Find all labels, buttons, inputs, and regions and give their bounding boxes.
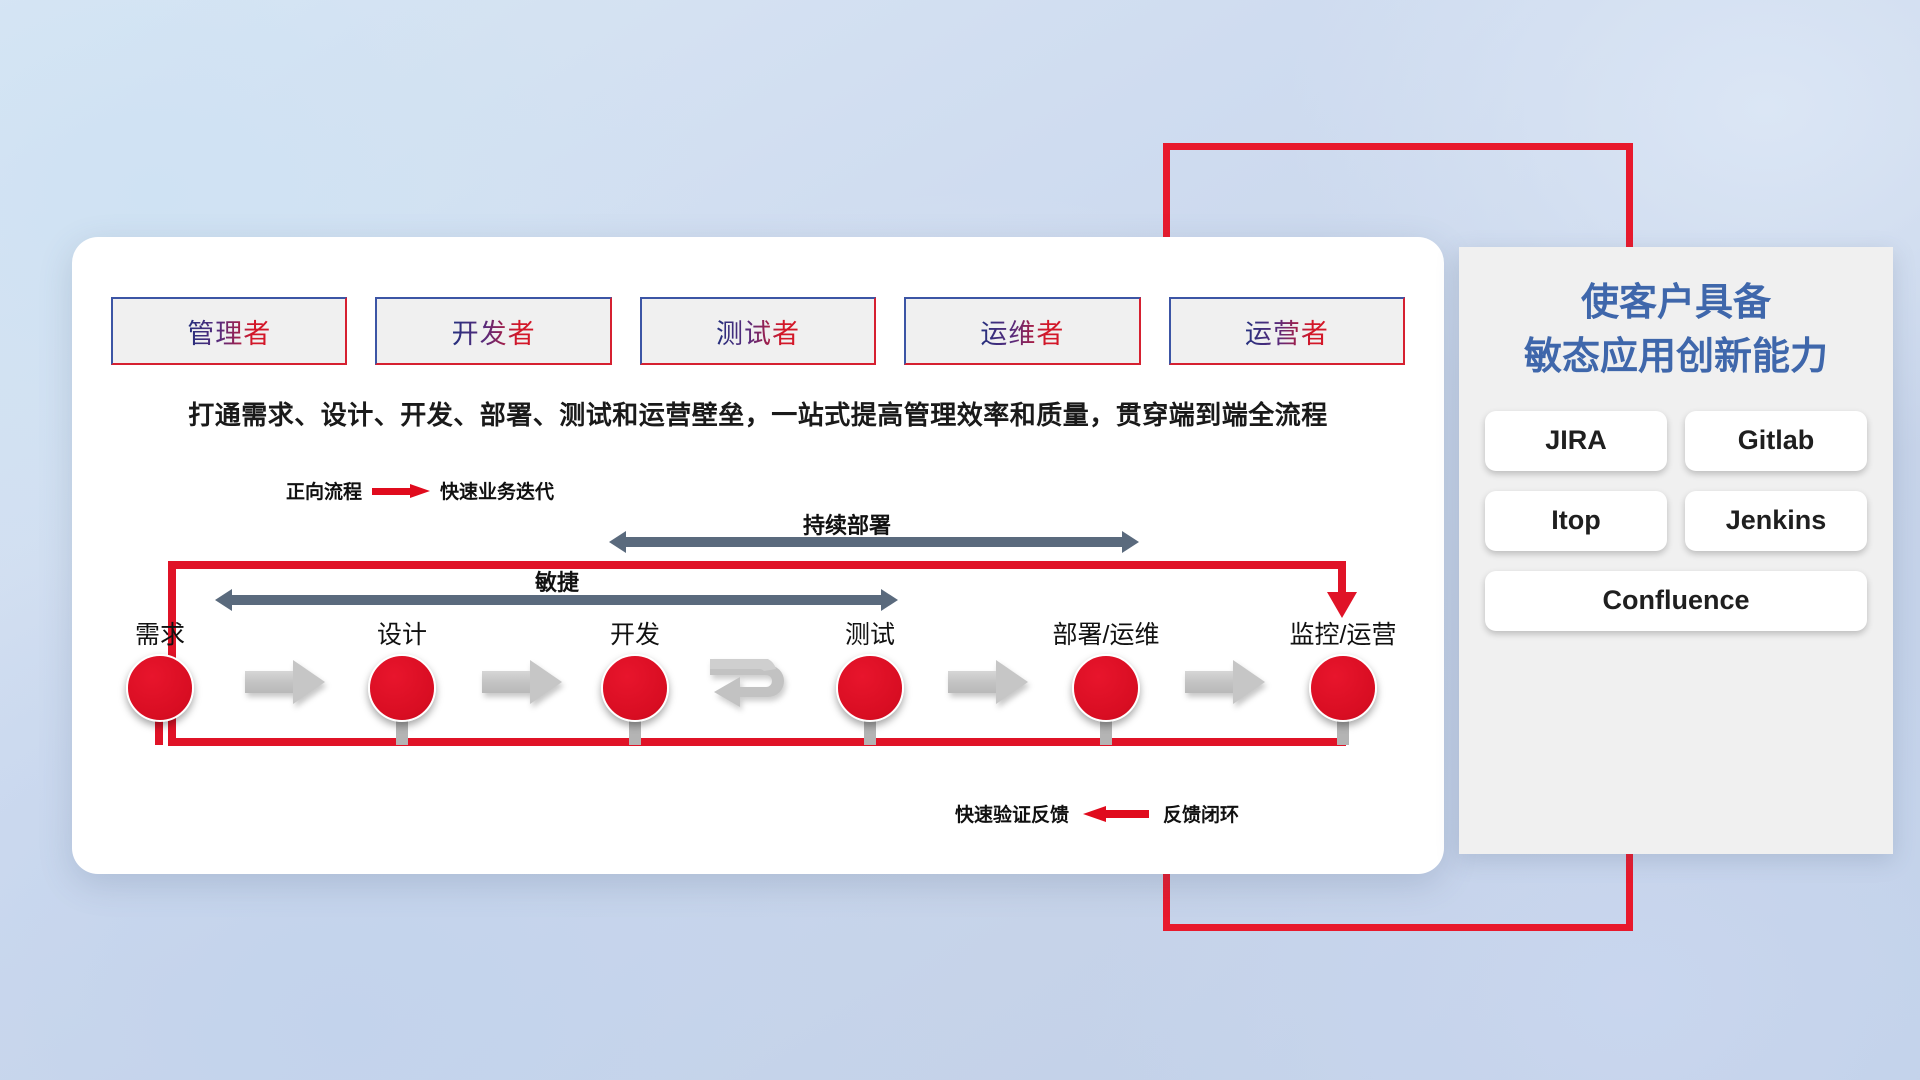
node-label: 需求 [100,615,220,651]
node-develop[interactable]: 开发 [575,615,695,722]
node-label: 监控/运营 [1283,615,1403,651]
legend-feedback-left-label: 快速验证反馈 [955,800,1069,827]
tool-jira[interactable]: JIRA [1485,411,1667,471]
node-dot-icon [601,654,669,722]
tool-gitlab[interactable]: Gitlab [1685,411,1867,471]
node-deploy-ops[interactable]: 部署/运维 [1046,615,1166,722]
diagram-stage: 管理者 开发者 测试者 运维者 运营者 打通需求、设计、开发、部署、测试和运营壁… [0,0,1920,1080]
tool-confluence[interactable]: Confluence [1485,571,1867,631]
node-design[interactable]: 设计 [342,615,462,722]
panel-title-line1: 使客户具备 [1485,277,1867,331]
node-label: 测试 [810,615,930,651]
iteration-loop-icon [706,655,802,715]
legend-feedback-loop: 快速验证反馈 反馈闭环 [955,800,1239,827]
node-dot-icon [836,654,904,722]
panel-title-line2: 敏态应用创新能力 [1485,331,1867,385]
node-label: 开发 [575,615,695,651]
arrow-left-icon [1083,806,1149,822]
node-requirement[interactable]: 需求 [100,615,220,722]
node-dot-icon [126,654,194,722]
node-label: 设计 [342,615,462,651]
block-arrow-deploy-to-monitor [1185,660,1265,704]
block-arrow-design-to-develop [482,660,562,704]
node-test[interactable]: 测试 [810,615,930,722]
block-arrow-requirement-to-design [245,660,325,704]
legend-feedback-right-label: 反馈闭环 [1163,800,1239,827]
tool-jenkins[interactable]: Jenkins [1685,491,1867,551]
node-dot-icon [1072,654,1140,722]
block-arrow-test-to-deploy [948,660,1028,704]
node-dot-icon [1309,654,1377,722]
tool-itop[interactable]: Itop [1485,491,1667,551]
panel-title: 使客户具备 敏态应用创新能力 [1485,277,1867,385]
value-panel: 使客户具备 敏态应用创新能力 JIRA Gitlab Itop Jenkins … [1459,247,1893,854]
tool-list: JIRA Gitlab Itop Jenkins Confluence [1485,411,1867,631]
node-dot-icon [368,654,436,722]
node-monitor-operations[interactable]: 监控/运营 [1283,615,1403,722]
node-label: 部署/运维 [1046,615,1166,651]
